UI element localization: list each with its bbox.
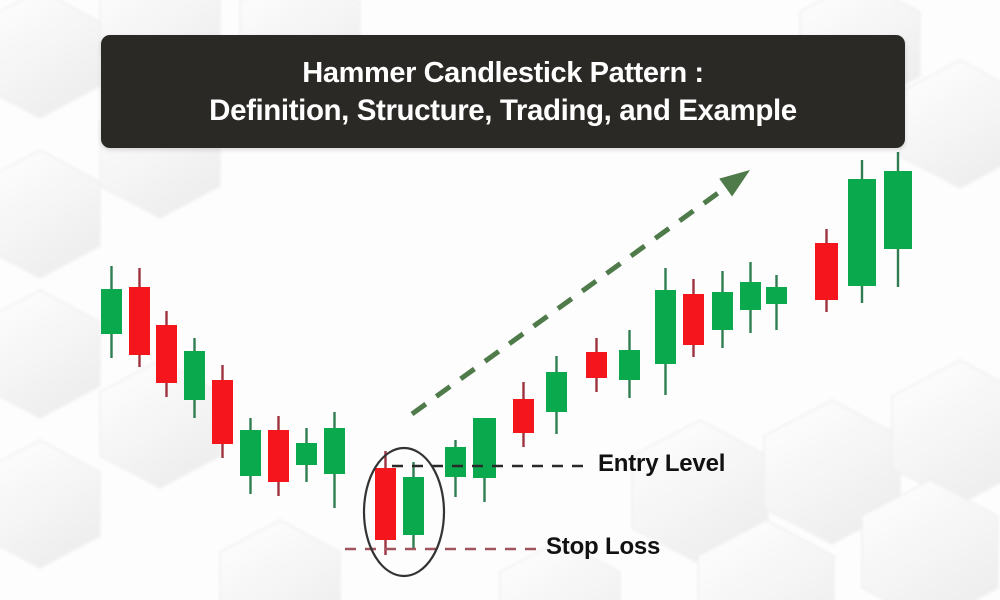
candle-body — [268, 430, 289, 482]
candlestick — [296, 428, 317, 482]
candle-body — [513, 399, 534, 433]
candlestick — [101, 266, 122, 358]
candlestick — [712, 271, 733, 348]
candle-body — [546, 372, 567, 412]
candle-body — [655, 290, 676, 364]
candlestick — [445, 440, 466, 497]
candlestick — [619, 330, 640, 398]
candlestick — [766, 275, 787, 330]
candlestick — [184, 338, 205, 418]
candle-body — [740, 282, 761, 310]
candle-body — [884, 171, 912, 249]
candle-body — [766, 287, 787, 304]
candle-body — [129, 287, 150, 355]
candlestick — [324, 412, 345, 508]
candlestick — [815, 229, 838, 312]
candle-body — [712, 292, 733, 330]
uptrend-arrow-head — [719, 170, 750, 196]
title-line-2: Definition, Structure, Trading, and Exam… — [209, 92, 797, 130]
entry-level-label: Entry Level — [598, 450, 725, 478]
candle-body — [296, 443, 317, 465]
candle-body — [184, 351, 205, 400]
candle-body — [586, 352, 607, 378]
title-line-1: Hammer Candlestick Pattern : — [302, 54, 703, 92]
candle-body — [815, 243, 838, 300]
candlestick — [655, 268, 676, 395]
candlestick — [740, 262, 761, 333]
candle-body — [324, 428, 345, 474]
candle-body — [240, 430, 261, 476]
candlestick — [848, 160, 876, 303]
candle-body — [619, 350, 640, 380]
candles-group — [101, 152, 912, 555]
candlestick — [156, 311, 177, 397]
candlestick — [586, 338, 607, 392]
title-card: Hammer Candlestick Pattern : Definition,… — [101, 35, 905, 148]
candlestick — [129, 268, 150, 367]
candlestick — [884, 152, 912, 287]
stop-loss-label: Stop Loss — [546, 533, 660, 561]
candle-body — [683, 294, 704, 345]
candlestick — [513, 382, 534, 447]
candlestick — [403, 462, 424, 548]
candlestick — [546, 356, 567, 434]
infographic-canvas: Hammer Candlestick Pattern : Definition,… — [0, 0, 1000, 600]
candle-body — [375, 468, 396, 540]
candle-body — [848, 179, 876, 286]
candlestick — [212, 365, 233, 458]
candle-body — [403, 477, 424, 535]
candle-body — [101, 289, 122, 334]
candlestick — [683, 279, 704, 357]
candle-body — [156, 325, 177, 383]
candle-body — [473, 418, 496, 478]
candlestick — [240, 418, 261, 494]
candle-body — [445, 447, 466, 477]
candlestick — [268, 416, 289, 496]
candle-body — [212, 380, 233, 444]
candlestick — [473, 418, 496, 502]
